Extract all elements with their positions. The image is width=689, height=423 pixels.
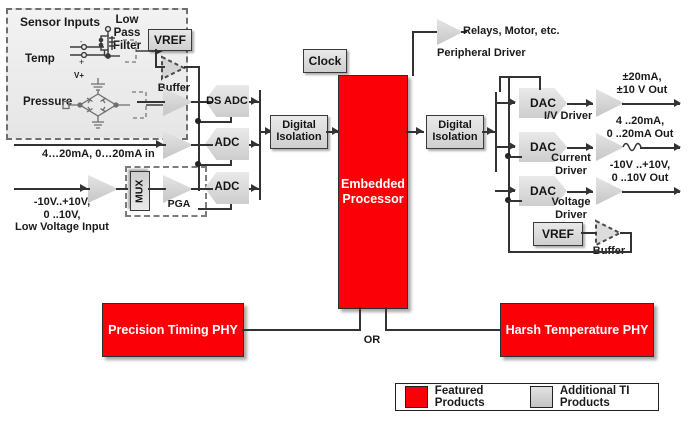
dac-3-label: DAC — [530, 185, 556, 197]
precision-timing-phy-block[interactable]: Precision Timing PHY — [102, 303, 244, 357]
wire-dac-bus — [495, 92, 497, 172]
arrow-voltage-driver — [586, 187, 593, 195]
wire-buffer-down — [630, 232, 632, 252]
legend: Featured Products Additional TI Products — [395, 383, 659, 411]
wire-cpu-down-right — [385, 307, 387, 330]
arrow-lv-input — [80, 184, 87, 192]
arrow-out3 — [674, 187, 681, 195]
mux-block[interactable]: MUX — [130, 171, 150, 211]
wire-mux-pga — [148, 188, 166, 190]
voltage-driver-label: Voltage Driver — [540, 196, 602, 221]
junction-dot-2 — [195, 161, 201, 167]
output-1-label: ±20mA, ±10 V Out — [596, 71, 688, 96]
legend-label-additional: Additional TI Products — [560, 385, 658, 409]
wire-temp-to-amp — [137, 101, 165, 103]
wire-vref-return — [508, 251, 632, 253]
arrow-iso-out-bus — [487, 127, 494, 135]
adc-3-label: ADC — [215, 182, 240, 194]
harsh-temperature-phy-block[interactable]: Harsh Temperature PHY — [500, 303, 654, 357]
legend-swatch-additional — [530, 386, 553, 408]
embedded-processor-block[interactable]: Embedded Processor — [338, 75, 408, 309]
input-amplifier-1[interactable] — [163, 88, 193, 116]
arrow-adc2 — [251, 140, 258, 148]
inductor-coil-icon — [622, 138, 642, 156]
wire-pga-adc — [191, 188, 213, 190]
input-vref-block[interactable]: VREF — [148, 29, 192, 51]
arrow-out2 — [674, 143, 681, 151]
wire-vref-to-buffer-h — [155, 66, 165, 68]
legend-label-featured: Featured Products — [435, 385, 516, 409]
peripheral-driver-amplifier[interactable] — [437, 19, 463, 45]
arrow-dac2 — [509, 142, 516, 150]
svg-text:+: + — [79, 57, 84, 67]
wire-cpu-peripheral-v — [412, 32, 414, 76]
arrow-iv-driver — [586, 99, 593, 107]
arrow-dac3 — [509, 186, 516, 194]
wire-vref-dac3 — [508, 200, 522, 202]
arrow-dac1 — [509, 98, 516, 106]
dac-1-label: DAC — [530, 97, 556, 109]
wire-dac1-top-h — [499, 76, 541, 78]
wire-vref-adc2-v — [230, 160, 232, 166]
wire-out3 — [622, 191, 680, 193]
arrow-adc1 — [251, 97, 258, 105]
voltage-input-label: -10V..+10V, 0 ..10V, Low Voltage Input — [0, 196, 124, 234]
ds-adc-label: DS ADC — [206, 96, 248, 107]
wire-vref-dac2 — [508, 156, 522, 158]
or-label: OR — [352, 334, 392, 347]
ds-adc-block[interactable]: DS ADC — [205, 85, 249, 117]
dac-2-label: DAC — [530, 141, 556, 153]
digital-isolation-output[interactable]: Digital Isolation — [426, 115, 484, 149]
input-buffer-amplifier[interactable] — [160, 55, 186, 81]
wire-out1 — [622, 103, 680, 105]
wire-vref-adc1 — [198, 121, 232, 123]
junction-dot-1 — [195, 118, 201, 124]
block-diagram-canvas: Sensor Inputs Low Pass Filter Temp Press… — [0, 0, 689, 423]
arrow-current-input — [156, 140, 163, 148]
arrow-current-driver — [586, 143, 593, 151]
wire-vref-adc2 — [198, 164, 232, 166]
wire-dac1-top — [499, 76, 501, 92]
wire-lvamp-mux — [116, 188, 128, 190]
wire-vref-adc1-v — [230, 117, 232, 123]
wire-vref-to-buffer — [155, 49, 157, 67]
input-amplifier-2[interactable] — [163, 131, 193, 159]
wire-vref-adc3 — [198, 208, 232, 210]
pga-label: PGA — [160, 198, 198, 210]
wire-amp2-adc — [191, 144, 213, 146]
output-buffer-amplifier[interactable] — [594, 219, 622, 247]
digital-isolation-input[interactable]: Digital Isolation — [270, 115, 328, 149]
wire-current-input — [14, 144, 166, 146]
clock-block[interactable]: Clock — [303, 49, 347, 73]
wire-adc-bus — [259, 90, 261, 200]
wire-vref-adc3-v — [230, 204, 232, 210]
temp-sensor-label: Temp — [25, 53, 55, 66]
peripheral-driver-label: Peripheral Driver — [437, 47, 526, 60]
arrow-adc3 — [251, 184, 258, 192]
wire-lv-input — [14, 188, 90, 190]
output-3-label: -10V ..+10V, 0 ..10V Out — [592, 159, 688, 184]
iv-driver-label: I/V Driver — [544, 110, 592, 123]
wire-vref-out-buffer — [581, 232, 597, 234]
legend-swatch-featured — [405, 386, 428, 408]
wire-phy-left — [242, 329, 361, 331]
adc-2-label: ADC — [215, 138, 240, 150]
output-2-label: 4 ..20mA, 0 ..20mA Out — [592, 115, 688, 140]
wire-dac1-feed — [539, 76, 541, 90]
arrow-cpu-iso-out — [416, 127, 423, 135]
peripheral-output-label: Relays, Motor, etc. — [463, 25, 560, 38]
wire-cpu-peripheral-h — [412, 31, 438, 33]
current-input-label: 4…20mA, 0…20mA in — [42, 148, 155, 161]
wire-cpu-down-left — [359, 307, 361, 330]
arrow-out1 — [674, 99, 681, 107]
output-vref-block[interactable]: VREF — [533, 222, 583, 246]
wire-phy-right — [385, 329, 500, 331]
